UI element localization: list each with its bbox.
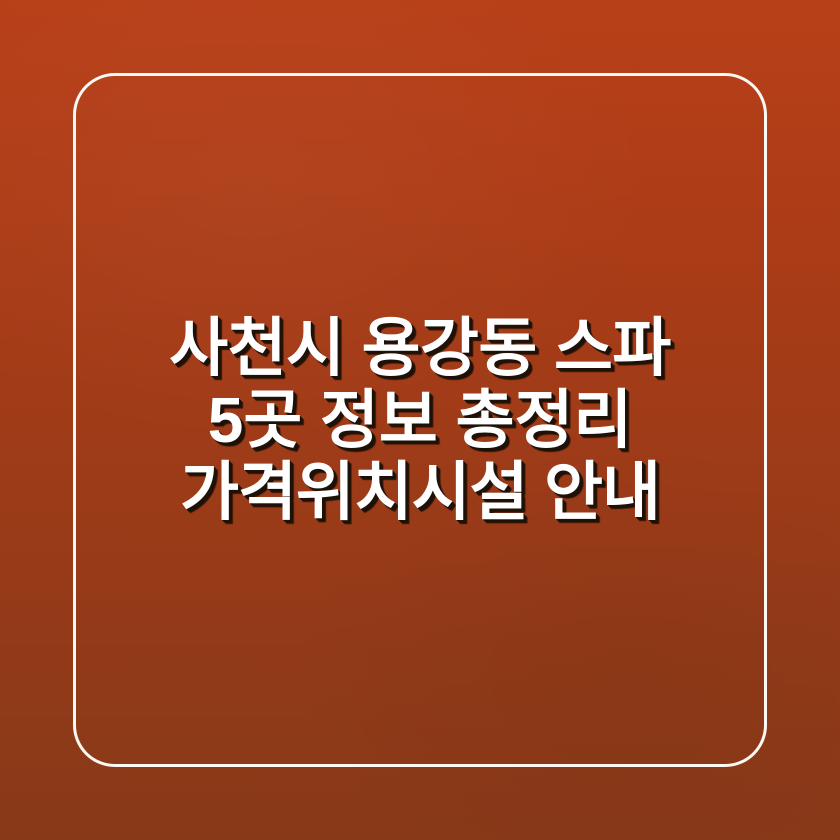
page-title: 사천시 용강동 스파 5곳 정보 총정리 가격위치시설 안내 (0, 0, 840, 840)
title-line-1: 사천시 용강동 스파 (90, 312, 750, 384)
title-line-2: 5곳 정보 총정리 (90, 384, 750, 456)
title-line-3: 가격위치시설 안내 (90, 456, 750, 528)
thumbnail-card: 사천시 용강동 스파 5곳 정보 총정리 가격위치시설 안내 (0, 0, 840, 840)
